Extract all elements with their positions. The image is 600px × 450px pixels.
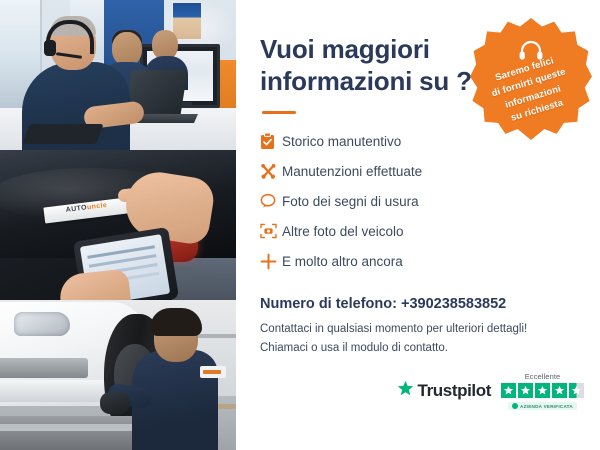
star-icon bbox=[518, 383, 533, 398]
contact-subline-1: Contattaci in qualsiasi momento per ulte… bbox=[260, 321, 580, 338]
rating-word: Eccellente bbox=[525, 372, 561, 381]
sticker-application-photo: AUTOuncle bbox=[0, 150, 236, 300]
car-grille bbox=[0, 358, 88, 378]
desk-tablet bbox=[22, 124, 103, 144]
hand-holding-tablet bbox=[58, 268, 132, 300]
verified-label: AZIENDA VERIFICATA bbox=[520, 404, 573, 409]
title-divider bbox=[262, 111, 296, 114]
mechanic-wheel-inspection-photo bbox=[0, 300, 236, 450]
verified-check-icon bbox=[512, 403, 518, 409]
feature-list: Storico manutentivo Manutenzioni effettu… bbox=[260, 128, 580, 274]
speech-bubble-icon bbox=[260, 192, 282, 210]
headset-earpad bbox=[44, 40, 56, 56]
star-icon bbox=[535, 383, 550, 398]
feature-label: Storico manutentivo bbox=[282, 134, 401, 149]
promo-banner: AUTOuncle Vu bbox=[0, 0, 600, 450]
agent-2-head bbox=[112, 32, 142, 66]
trustpilot-star-icon bbox=[397, 380, 414, 402]
feature-label: Manutenzioni effettuate bbox=[282, 164, 422, 179]
sticker-brand-text: AUTOuncle bbox=[65, 202, 107, 214]
mechanic-hair bbox=[150, 308, 202, 336]
feature-label: E molto altro ancora bbox=[282, 254, 403, 269]
feature-label: Altre foto del veicolo bbox=[282, 224, 404, 239]
phone-number-line[interactable]: Numero di telefono: +390238583852 bbox=[260, 296, 580, 312]
verified-badge: AZIENDA VERIFICATA bbox=[508, 402, 577, 410]
star-icon bbox=[501, 383, 516, 398]
page-title: Vuoi maggiori informazioni su ? bbox=[260, 34, 475, 97]
plus-icon bbox=[260, 252, 282, 270]
star-half-icon bbox=[569, 383, 584, 398]
trustpilot-widget[interactable]: Trustpilot Eccellente bbox=[397, 372, 584, 410]
status-badge: Saremo felici di fornirti queste informa… bbox=[470, 18, 592, 140]
car-headlight bbox=[14, 312, 70, 336]
photo-scan-icon bbox=[260, 222, 282, 240]
trustpilot-name: Trustpilot bbox=[418, 381, 491, 401]
tools-cross-icon bbox=[260, 162, 282, 180]
trustpilot-logo: Trustpilot bbox=[397, 380, 491, 402]
contact-subline-2: Chiamaci o usa il modulo di contatto. bbox=[260, 340, 580, 357]
list-item: Manutenzioni effettuate bbox=[260, 158, 580, 184]
list-item: Foto dei segni di usura bbox=[260, 188, 580, 214]
content-panel: Vuoi maggiori informazioni su ? Storico … bbox=[236, 0, 600, 450]
list-item: Altre foto del veicolo bbox=[260, 218, 580, 244]
feature-label: Foto dei segni di usura bbox=[282, 194, 419, 209]
star-rating bbox=[501, 383, 584, 398]
call-center-agents-photo bbox=[0, 0, 236, 150]
trustpilot-rating: Eccellente bbox=[501, 372, 584, 410]
contact-block: Numero di telefono: +390238583852 Contat… bbox=[260, 296, 580, 356]
wall-poster bbox=[172, 2, 202, 40]
star-icon bbox=[552, 383, 567, 398]
mechanic-glove bbox=[100, 392, 130, 414]
clipboard-check-icon bbox=[260, 132, 282, 150]
photo-column: AUTOuncle bbox=[0, 0, 236, 450]
list-item: E molto altro ancora bbox=[260, 248, 580, 274]
uniform-logo bbox=[200, 366, 226, 378]
